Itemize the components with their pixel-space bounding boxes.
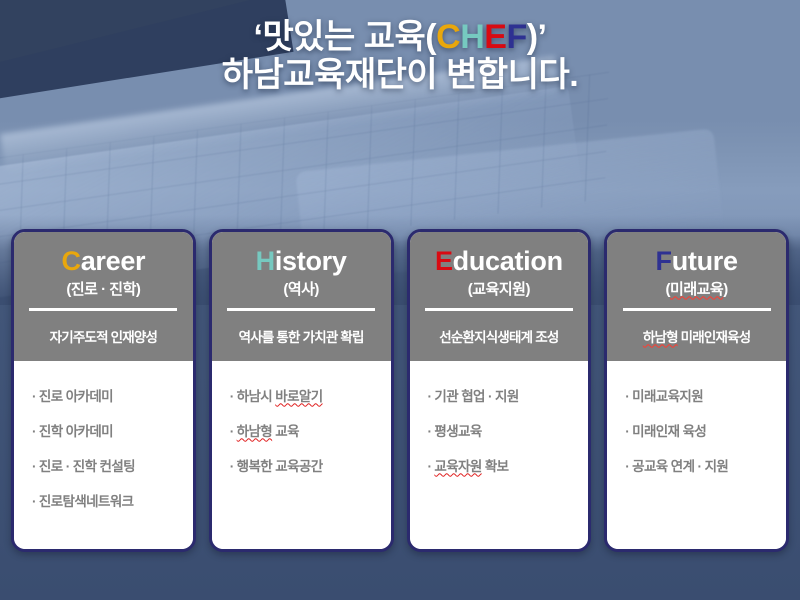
card-initial-letter: C (61, 246, 80, 276)
bullet-dot-icon: · (230, 389, 234, 404)
title-line-1: ‘맛있는 교육(CHEF)’ (0, 18, 800, 56)
card-korean-subtitle: (미래교육) (615, 278, 778, 299)
card-tagline: 역사를 통한 가치관 확립 (220, 326, 383, 346)
card-tagline: 자기주도적 인재양성 (22, 326, 185, 346)
bullet-dot-icon: · (32, 389, 36, 404)
chef-letter-e: E (484, 18, 506, 56)
list-item-label: 공교육 연계 · 지원 (632, 459, 728, 474)
list-item: ·기관 협업 · 지원 (428, 385, 589, 405)
list-item-label: 진로 · 진학 컨설팅 (39, 459, 135, 474)
card-header: History (역사) 역사를 통한 가치관 확립 (212, 232, 391, 361)
list-item-label: 미래인재 육성 (632, 424, 706, 439)
list-item: ·진로 · 진학 컨설팅 (32, 455, 193, 475)
chef-letter-c: C (436, 18, 460, 56)
list-item: ·평생교육 (428, 420, 589, 440)
list-item: ·행복한 교육공간 (230, 455, 391, 475)
list-item-label: 기관 협업 · 지원 (434, 389, 518, 404)
bullet-dot-icon: · (625, 459, 629, 474)
card-initial-letter: E (435, 246, 453, 276)
list-item: ·하남시 바로알기 (230, 385, 391, 405)
title-prefix: ‘맛있는 교육( (254, 18, 437, 56)
card-title-rest: ducation (453, 246, 563, 276)
pillar-card-history[interactable]: History (역사) 역사를 통한 가치관 확립 ·하남시 바로알기 ·하남… (209, 229, 394, 552)
card-korean-subtitle: (진로 · 진학) (22, 278, 185, 299)
card-tagline-text: 선순환지식생태계 조성 (439, 330, 558, 345)
list-item-label: 평생교육 (434, 424, 481, 439)
card-title: Education (418, 248, 581, 276)
card-header: Future (미래교육) 하남형 미래인재육성 (607, 232, 786, 361)
list-item-label: 진학 아카데미 (39, 424, 113, 439)
list-item-label: 진로탐색네트워크 (39, 494, 134, 509)
card-korean-subtitle: (역사) (220, 278, 383, 299)
list-item: ·공교육 연계 · 지원 (625, 455, 786, 475)
list-item: ·진학 아카데미 (32, 420, 193, 440)
bullet-dot-icon: · (428, 459, 432, 474)
chef-letter-h: H (460, 18, 484, 56)
card-tagline-misspelled: 하남형 (643, 330, 678, 345)
card-title-rest: areer (81, 246, 146, 276)
card-divider-rule (425, 308, 573, 311)
card-tagline-text: 역사를 통한 가치관 확립 (239, 330, 364, 345)
bullet-dot-icon: · (32, 494, 36, 509)
bullet-dot-icon: · (230, 424, 234, 439)
card-divider-rule (623, 308, 771, 311)
list-item-misspelled: 하남형 (237, 424, 272, 439)
list-item: ·교육자원 확보 (428, 455, 589, 475)
card-subtitle-misspelled: 미래교육 (670, 281, 723, 298)
list-item-label: 하남시 (237, 389, 276, 404)
card-initial-letter: H (256, 246, 275, 276)
card-title: Future (615, 248, 778, 276)
list-item-label: 확보 (482, 459, 509, 474)
list-item: ·진로 아카데미 (32, 385, 193, 405)
card-divider-rule (227, 308, 375, 311)
bullet-dot-icon: · (625, 424, 629, 439)
list-item-misspelled: 교육자원 (434, 459, 481, 474)
card-tagline: 하남형 미래인재육성 (615, 326, 778, 346)
list-item-label: 진로 아카데미 (39, 389, 113, 404)
list-item: ·진로탐색네트워크 (32, 490, 193, 510)
card-title: Career (22, 248, 185, 276)
card-tagline-text: 자기주도적 인재양성 (50, 330, 158, 345)
slide-canvas: ‘맛있는 교육(CHEF)’ 하남교육재단이 변합니다. Career (진로 … (0, 0, 800, 600)
chef-letter-f: F (506, 18, 526, 56)
bullet-dot-icon: · (428, 389, 432, 404)
card-title: History (220, 248, 383, 276)
list-item: ·미래교육지원 (625, 385, 786, 405)
card-body: ·진로 아카데미 ·진학 아카데미 ·진로 · 진학 컨설팅 ·진로탐색네트워크 (14, 361, 193, 549)
bullet-dot-icon: · (428, 424, 432, 439)
title-line-2: 하남교육재단이 변합니다. (0, 56, 800, 94)
slide-title: ‘맛있는 교육(CHEF)’ 하남교육재단이 변합니다. (0, 18, 800, 94)
list-item: ·미래인재 육성 (625, 420, 786, 440)
card-title-rest: uture (672, 246, 738, 276)
bullet-dot-icon: · (32, 459, 36, 474)
pillar-card-list: Career (진로 · 진학) 자기주도적 인재양성 ·진로 아카데미 ·진학… (11, 229, 789, 552)
card-korean-subtitle: (교육지원) (418, 278, 581, 299)
bullet-dot-icon: · (32, 424, 36, 439)
list-item-label: 미래교육지원 (632, 389, 703, 404)
card-header: Career (진로 · 진학) 자기주도적 인재양성 (14, 232, 193, 361)
pillar-card-future[interactable]: Future (미래교육) 하남형 미래인재육성 ·미래교육지원 ·미래인재 육… (604, 229, 789, 552)
list-item: ·하남형 교육 (230, 420, 391, 440)
card-initial-letter: F (656, 246, 672, 276)
card-body: ·기관 협업 · 지원 ·평생교육 ·교육자원 확보 (410, 361, 589, 549)
title-suffix: )’ (527, 18, 547, 56)
bullet-dot-icon: · (625, 389, 629, 404)
card-body: ·하남시 바로알기 ·하남형 교육 ·행복한 교육공간 (212, 361, 391, 549)
card-divider-rule (29, 308, 177, 311)
pillar-card-career[interactable]: Career (진로 · 진학) 자기주도적 인재양성 ·진로 아카데미 ·진학… (11, 229, 196, 552)
card-title-rest: istory (275, 246, 347, 276)
list-item-misspelled: 바로알기 (275, 389, 322, 404)
pillar-card-education[interactable]: Education (교육지원) 선순환지식생태계 조성 ·기관 협업 · 지원… (407, 229, 592, 552)
card-header: Education (교육지원) 선순환지식생태계 조성 (410, 232, 589, 361)
card-tagline: 선순환지식생태계 조성 (418, 326, 581, 346)
list-item-label: 행복한 교육공간 (237, 459, 323, 474)
list-item-label: 교육 (272, 424, 299, 439)
card-body: ·미래교육지원 ·미래인재 육성 ·공교육 연계 · 지원 (607, 361, 786, 549)
bullet-dot-icon: · (230, 459, 234, 474)
card-tagline-text: 미래인재육성 (678, 330, 751, 345)
